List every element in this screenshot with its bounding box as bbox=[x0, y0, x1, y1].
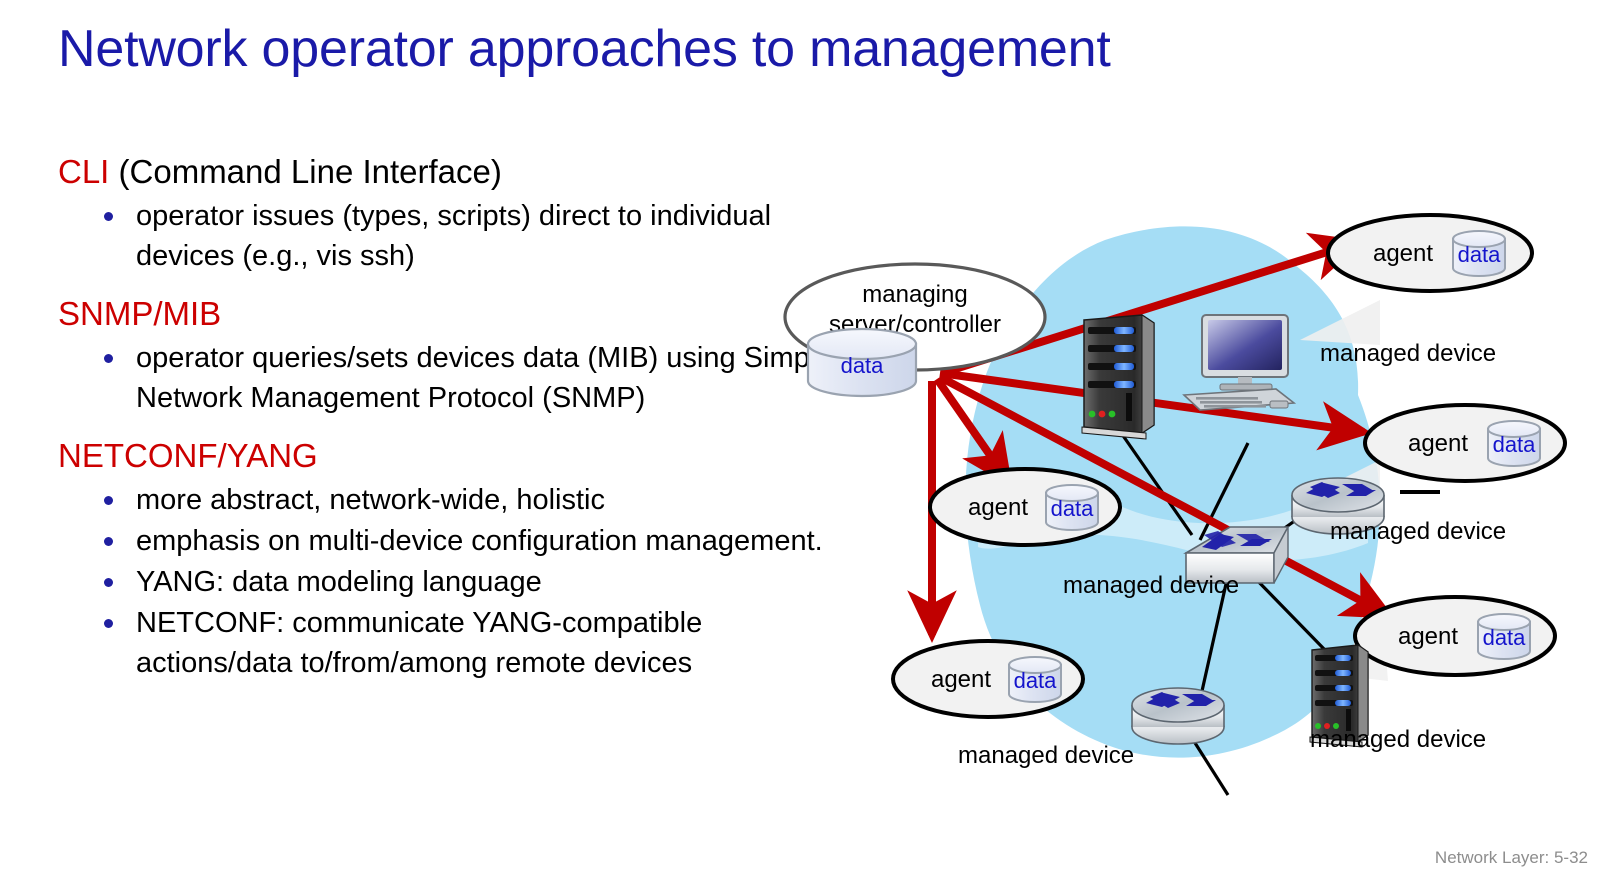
managed-device-label-router1: managed device bbox=[1330, 518, 1506, 545]
section-keyword: CLI bbox=[58, 153, 109, 190]
section-snmp-mib: SNMP/MIB operator queries/sets devices d… bbox=[58, 292, 858, 418]
agent-data-cylinder: data bbox=[1046, 485, 1098, 530]
bullet-text: YANG: data modeling language bbox=[136, 566, 542, 598]
list-item: operator queries/sets devices data (MIB)… bbox=[58, 338, 858, 418]
section-heading-rest: (Command Line Interface) bbox=[109, 153, 502, 190]
bullet-dot-icon bbox=[104, 496, 113, 505]
server-tower-icon bbox=[1082, 315, 1154, 439]
bullet-dot-icon bbox=[104, 354, 113, 363]
section-cli: CLI (Command Line Interface) operator is… bbox=[58, 150, 858, 276]
agent-label: agent bbox=[931, 666, 991, 693]
section-keyword: SNMP/MIB bbox=[58, 295, 221, 332]
agent-data-label: data bbox=[1014, 668, 1058, 693]
bullet-text: emphasis on multi-device configuration m… bbox=[136, 525, 823, 557]
bullet-dot-icon bbox=[104, 619, 113, 628]
list-item: emphasis on multi-device configuration m… bbox=[58, 521, 858, 561]
list-item: YANG: data modeling language bbox=[58, 562, 858, 602]
agent-label: agent bbox=[1398, 623, 1458, 650]
list-item: more abstract, network-wide, holistic bbox=[58, 480, 858, 520]
managed-device-label-server: managed device bbox=[1310, 726, 1486, 753]
bullet-text: NETCONF: communicate YANG-compatible act… bbox=[136, 607, 702, 679]
agent-data-label: data bbox=[1458, 242, 1502, 267]
agent-bottom-left[interactable]: agent data bbox=[893, 641, 1083, 717]
agent-data-cylinder: data bbox=[1488, 421, 1540, 466]
bullet-text: operator issues (types, scripts) direct … bbox=[136, 200, 771, 272]
agent-data-cylinder: data bbox=[1453, 231, 1505, 276]
bullet-list-cli: operator issues (types, scripts) direct … bbox=[58, 196, 858, 276]
agent-data-label: data bbox=[1493, 432, 1537, 457]
controller-data-label: data bbox=[841, 353, 885, 378]
section-heading-snmp-mib: SNMP/MIB bbox=[58, 292, 858, 336]
bullet-dot-icon bbox=[104, 578, 113, 587]
managed-device-label-laptop: managed device bbox=[1320, 340, 1496, 367]
list-item: NETCONF: communicate YANG-compatible act… bbox=[58, 603, 858, 683]
agent-mid-left[interactable]: agent data bbox=[930, 469, 1120, 545]
bullet-text: more abstract, network-wide, holistic bbox=[136, 484, 605, 516]
bullet-dot-icon bbox=[104, 537, 113, 546]
list-item: operator issues (types, scripts) direct … bbox=[58, 196, 858, 276]
router-icon-2 bbox=[1132, 688, 1224, 744]
section-netconf-yang: NETCONF/YANG more abstract, network-wide… bbox=[58, 434, 858, 683]
agent-label: agent bbox=[1408, 430, 1468, 457]
content-column: CLI (Command Line Interface) operator is… bbox=[58, 150, 858, 689]
agent-label: agent bbox=[1373, 240, 1433, 267]
page-title: Network operator approaches to managemen… bbox=[58, 18, 1111, 80]
section-heading-netconf-yang: NETCONF/YANG bbox=[58, 434, 858, 478]
managed-device-label-router2: managed device bbox=[958, 742, 1134, 769]
agent-data-label: data bbox=[1051, 496, 1095, 521]
footer-slide-number: Network Layer: 5-32 bbox=[1435, 848, 1588, 868]
agent-label: agent bbox=[968, 494, 1028, 521]
bullet-text: operator queries/sets devices data (MIB)… bbox=[136, 342, 832, 414]
agent-data-cylinder: data bbox=[1009, 657, 1061, 702]
agent-data-label: data bbox=[1483, 625, 1527, 650]
managed-device-label-switch: managed device bbox=[1063, 572, 1239, 599]
bullet-dot-icon bbox=[104, 212, 113, 221]
section-keyword: NETCONF/YANG bbox=[58, 437, 318, 474]
controller-line1: managing bbox=[862, 281, 967, 308]
bullet-list-netconf-yang: more abstract, network-wide, holistic em… bbox=[58, 480, 858, 683]
controller-data-cylinder: data bbox=[808, 329, 916, 396]
network-management-diagram: managing server/controller data agent da… bbox=[780, 195, 1610, 815]
bullet-list-snmp-mib: operator queries/sets devices data (MIB)… bbox=[58, 338, 858, 418]
section-heading-cli: CLI (Command Line Interface) bbox=[58, 150, 858, 194]
agent-data-cylinder: data bbox=[1478, 614, 1530, 659]
